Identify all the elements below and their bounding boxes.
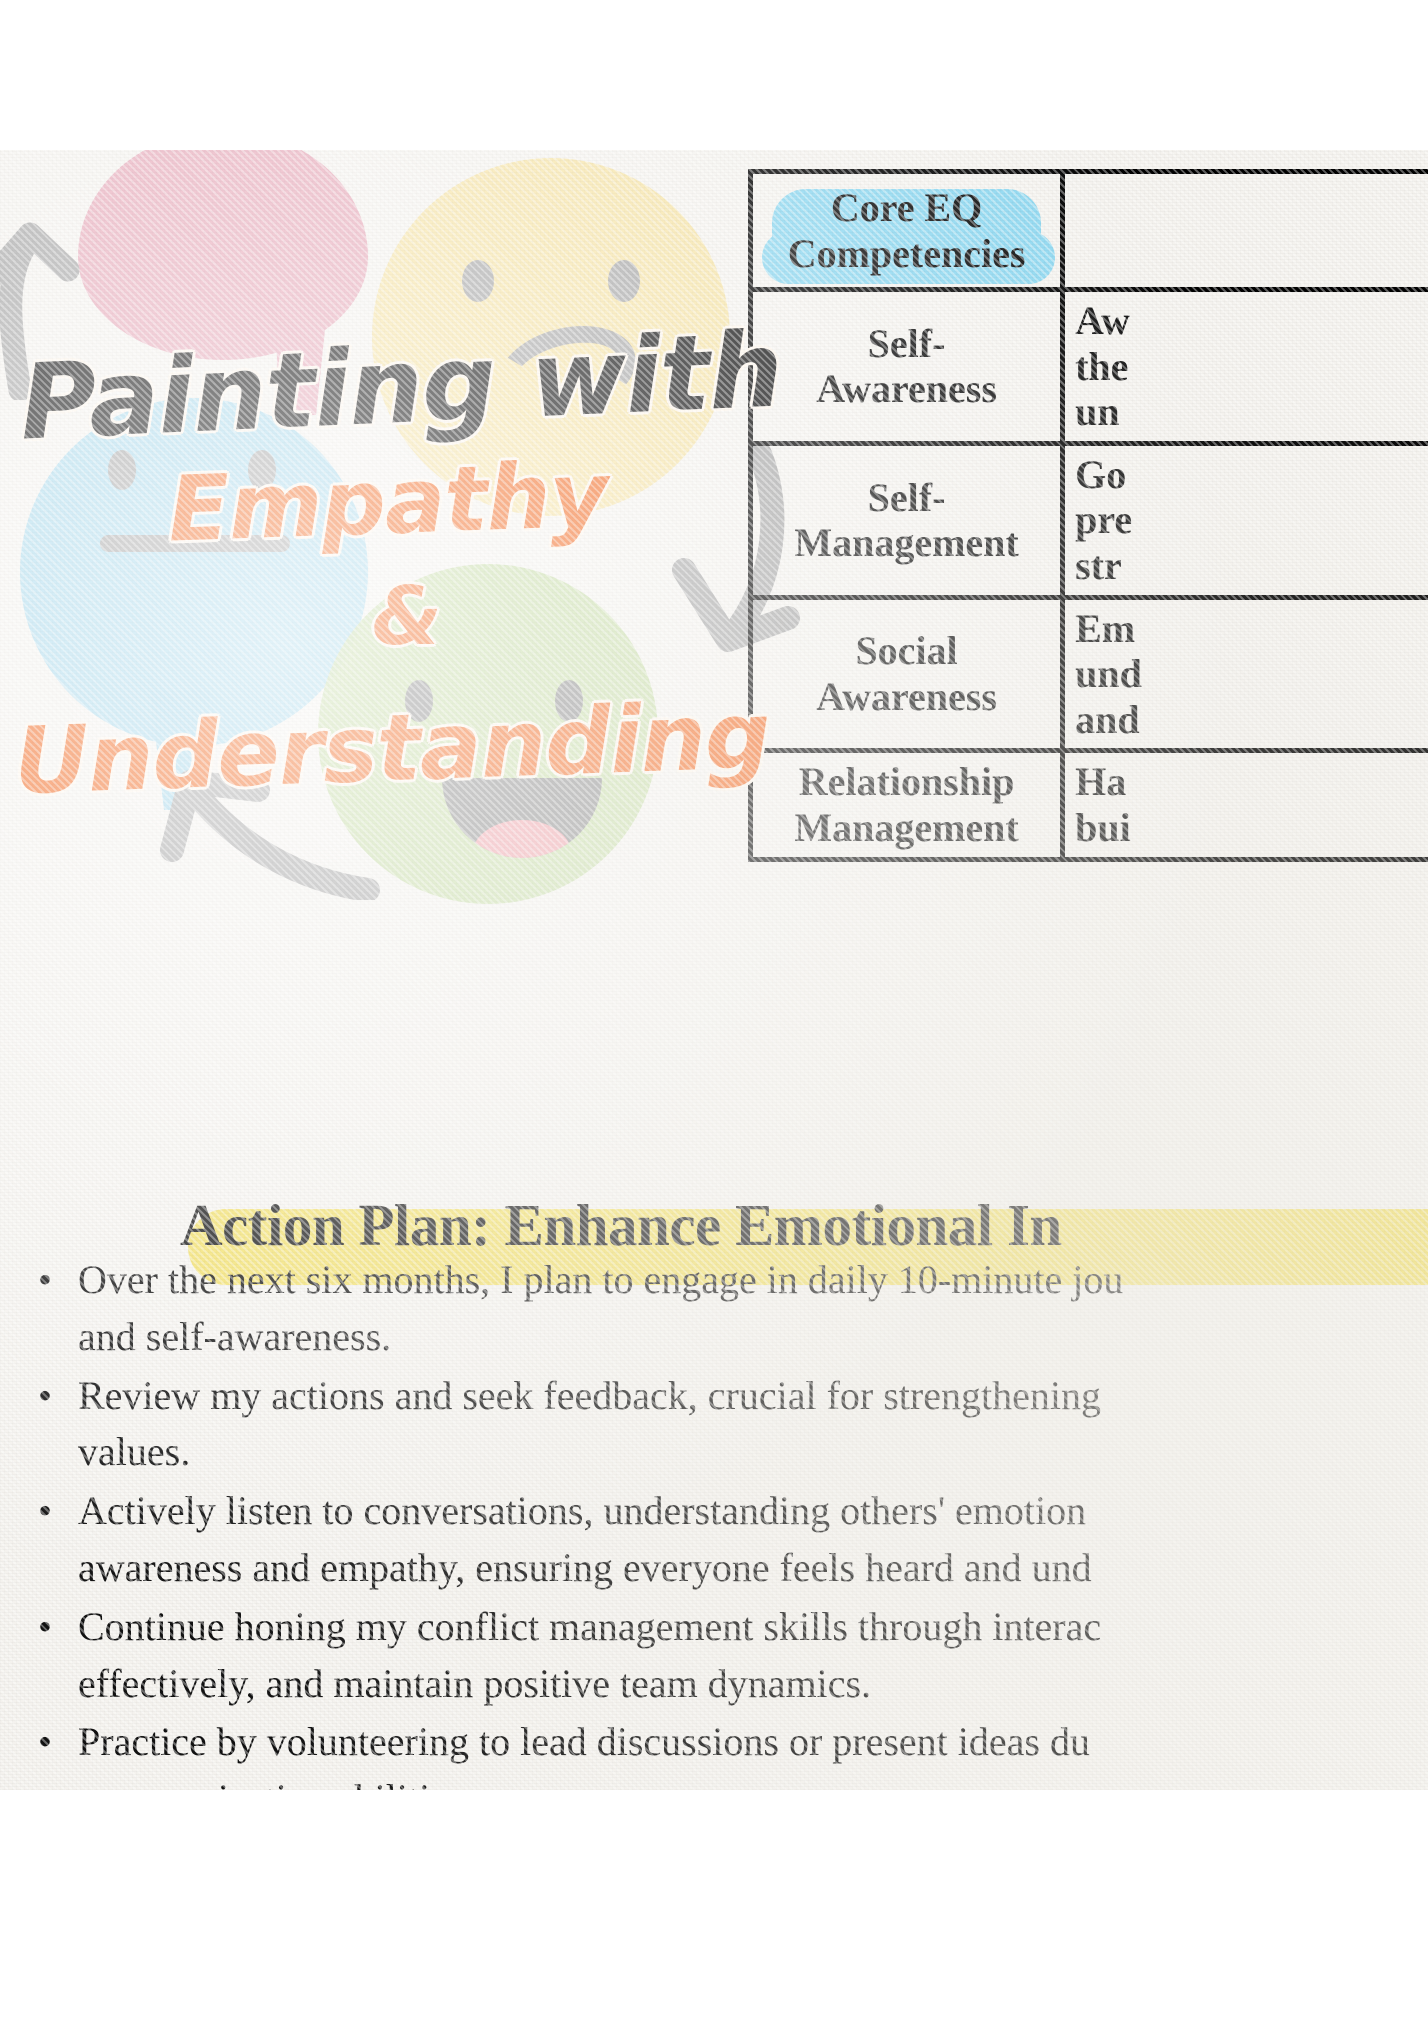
table-header-core-eq-competencies: Core EQ Competencies [751, 172, 1063, 290]
action-plan-banner: Action Plan: Enhance Emotional In [180, 1193, 1062, 1258]
competency-name-self-awareness: Self- Awareness [751, 290, 1063, 444]
competency-line-1: Relationship [799, 759, 1015, 804]
header-line-1: Core EQ [831, 185, 982, 230]
action-plan-bullet-list: Over the next six months, I plan to enga… [28, 1252, 1428, 1790]
header-line-2: Competencies [788, 231, 1026, 276]
desc-line-2: the [1075, 344, 1128, 389]
table-row: Social Awareness Em und and [751, 597, 1428, 751]
competency-desc-relationship-management: Ha bui [1063, 751, 1428, 859]
table-row: Relationship Management Ha bui [751, 751, 1428, 859]
competency-desc-self-management: Go pre str [1063, 443, 1428, 597]
competency-name-social-awareness: Social Awareness [751, 597, 1063, 751]
competency-line-2: Management [794, 520, 1018, 565]
bullet-text: Actively listen to conversations, unders… [78, 1483, 1428, 1597]
action-plan-title: Action Plan: Enhance Emotional In [180, 1193, 1062, 1258]
competency-line-2: Awareness [816, 366, 997, 411]
desc-line-3: un [1075, 389, 1120, 434]
competency-line-2: Awareness [816, 674, 997, 719]
desc-line-1: Aw [1075, 298, 1130, 343]
table-row: Self- Awareness Aw the un [751, 290, 1428, 444]
bullet-text: Over the next six months, I plan to enga… [78, 1252, 1428, 1366]
desc-line-2: und [1075, 651, 1142, 696]
competency-line-1: Social [855, 628, 957, 673]
desc-line-1: Em [1075, 606, 1135, 651]
list-item: Practice by volunteering to lead discuss… [28, 1714, 1428, 1790]
competency-line-1: Self- [868, 321, 946, 366]
competency-name-relationship-management: Relationship Management [751, 751, 1063, 859]
competency-line-2: Management [794, 805, 1018, 850]
poster-canvas: Painting with Empathy & Understanding Co… [0, 150, 1428, 1790]
list-item: Review my actions and seek feedback, cru… [28, 1368, 1428, 1482]
competency-line-1: Self- [868, 475, 946, 520]
desc-line-3: str [1075, 543, 1122, 588]
page-title-ampersand: & [372, 570, 441, 663]
table-row: Self- Management Go pre str [751, 443, 1428, 597]
competency-desc-social-awareness: Em und and [1063, 597, 1428, 751]
list-item: Continue honing my conflict management s… [28, 1599, 1428, 1713]
eq-competencies-table: Core EQ Competencies Self- Awareness Aw … [748, 169, 1428, 862]
list-item: Actively listen to conversations, unders… [28, 1483, 1428, 1597]
yellow-face-right-eye-icon [608, 260, 640, 302]
desc-line-2: bui [1075, 805, 1131, 850]
yellow-face-left-eye-icon [462, 260, 494, 302]
list-item: Over the next six months, I plan to enga… [28, 1252, 1428, 1366]
bullet-text: Review my actions and seek feedback, cru… [78, 1368, 1428, 1482]
table-header-description [1063, 172, 1428, 290]
competency-name-self-management: Self- Management [751, 443, 1063, 597]
page-title-line-2: Empathy [166, 442, 609, 562]
desc-line-2: pre [1075, 497, 1132, 542]
bullet-text: Continue honing my conflict management s… [78, 1599, 1428, 1713]
desc-line-1: Go [1075, 452, 1126, 497]
competency-desc-self-awareness: Aw the un [1063, 290, 1428, 444]
green-face-tongue-icon [472, 820, 572, 858]
table-header-row: Core EQ Competencies [751, 172, 1428, 290]
bullet-text: Practice by volunteering to lead discuss… [78, 1714, 1428, 1790]
desc-line-1: Ha [1075, 759, 1126, 804]
desc-line-3: and [1075, 697, 1140, 742]
